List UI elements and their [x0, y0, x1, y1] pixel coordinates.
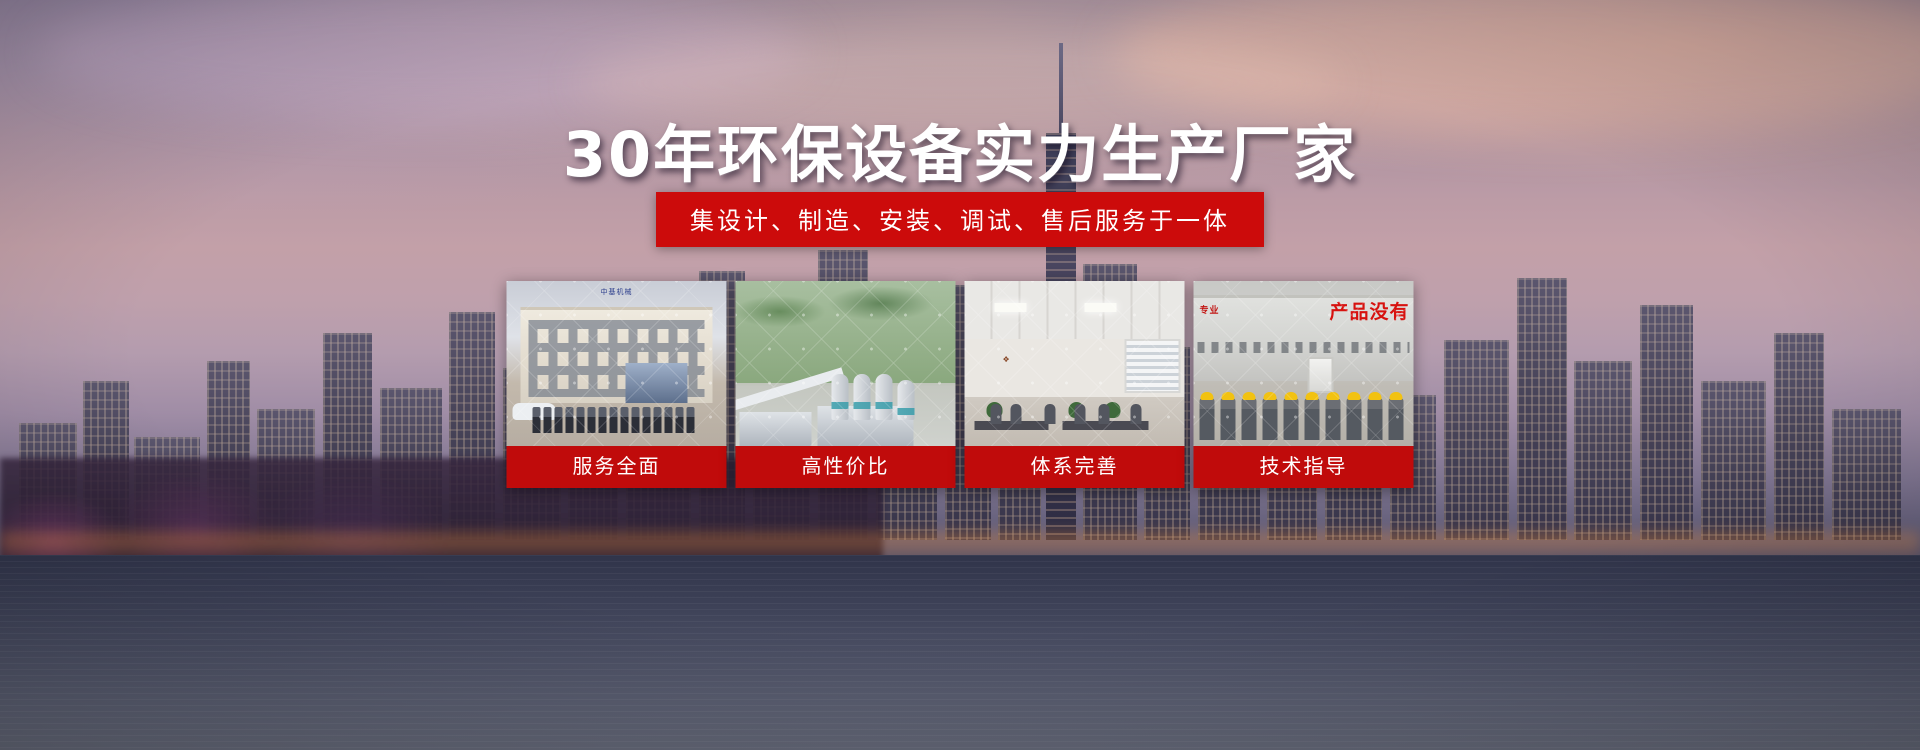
card-thumbnail-office-interior: ❖ — [965, 281, 1185, 446]
feature-card[interactable]: ❖ 体系完善 — [965, 281, 1185, 488]
page-title: 30年环保设备实力生产厂家 — [0, 104, 1920, 194]
card-caption: 技术指导 — [1194, 446, 1414, 488]
card-caption: 体系完善 — [965, 446, 1185, 488]
card-thumbnail-office-building: 中基机械 — [507, 281, 727, 446]
card-thumbnail-factory-workshop: 专业 产品没有 — [1194, 281, 1414, 446]
card-caption: 服务全面 — [507, 446, 727, 488]
subtitle-badge: 集设计、制造、安装、调试、售后服务于一体 — [656, 192, 1264, 247]
river-water — [0, 555, 1920, 750]
feature-card[interactable]: 中基机械 服务全面 — [507, 281, 727, 488]
hero-banner: 30年环保设备实力生产厂家 集设计、制造、安装、调试、售后服务于一体 中基机械 … — [0, 0, 1920, 750]
feature-card[interactable]: 高性价比 — [736, 281, 956, 488]
card-thumbnail-aerial-plant — [736, 281, 956, 446]
card-caption: 高性价比 — [736, 446, 956, 488]
feature-card-list: 中基机械 服务全面 — [507, 281, 1414, 488]
feature-card[interactable]: 专业 产品没有 技术指导 — [1194, 281, 1414, 488]
